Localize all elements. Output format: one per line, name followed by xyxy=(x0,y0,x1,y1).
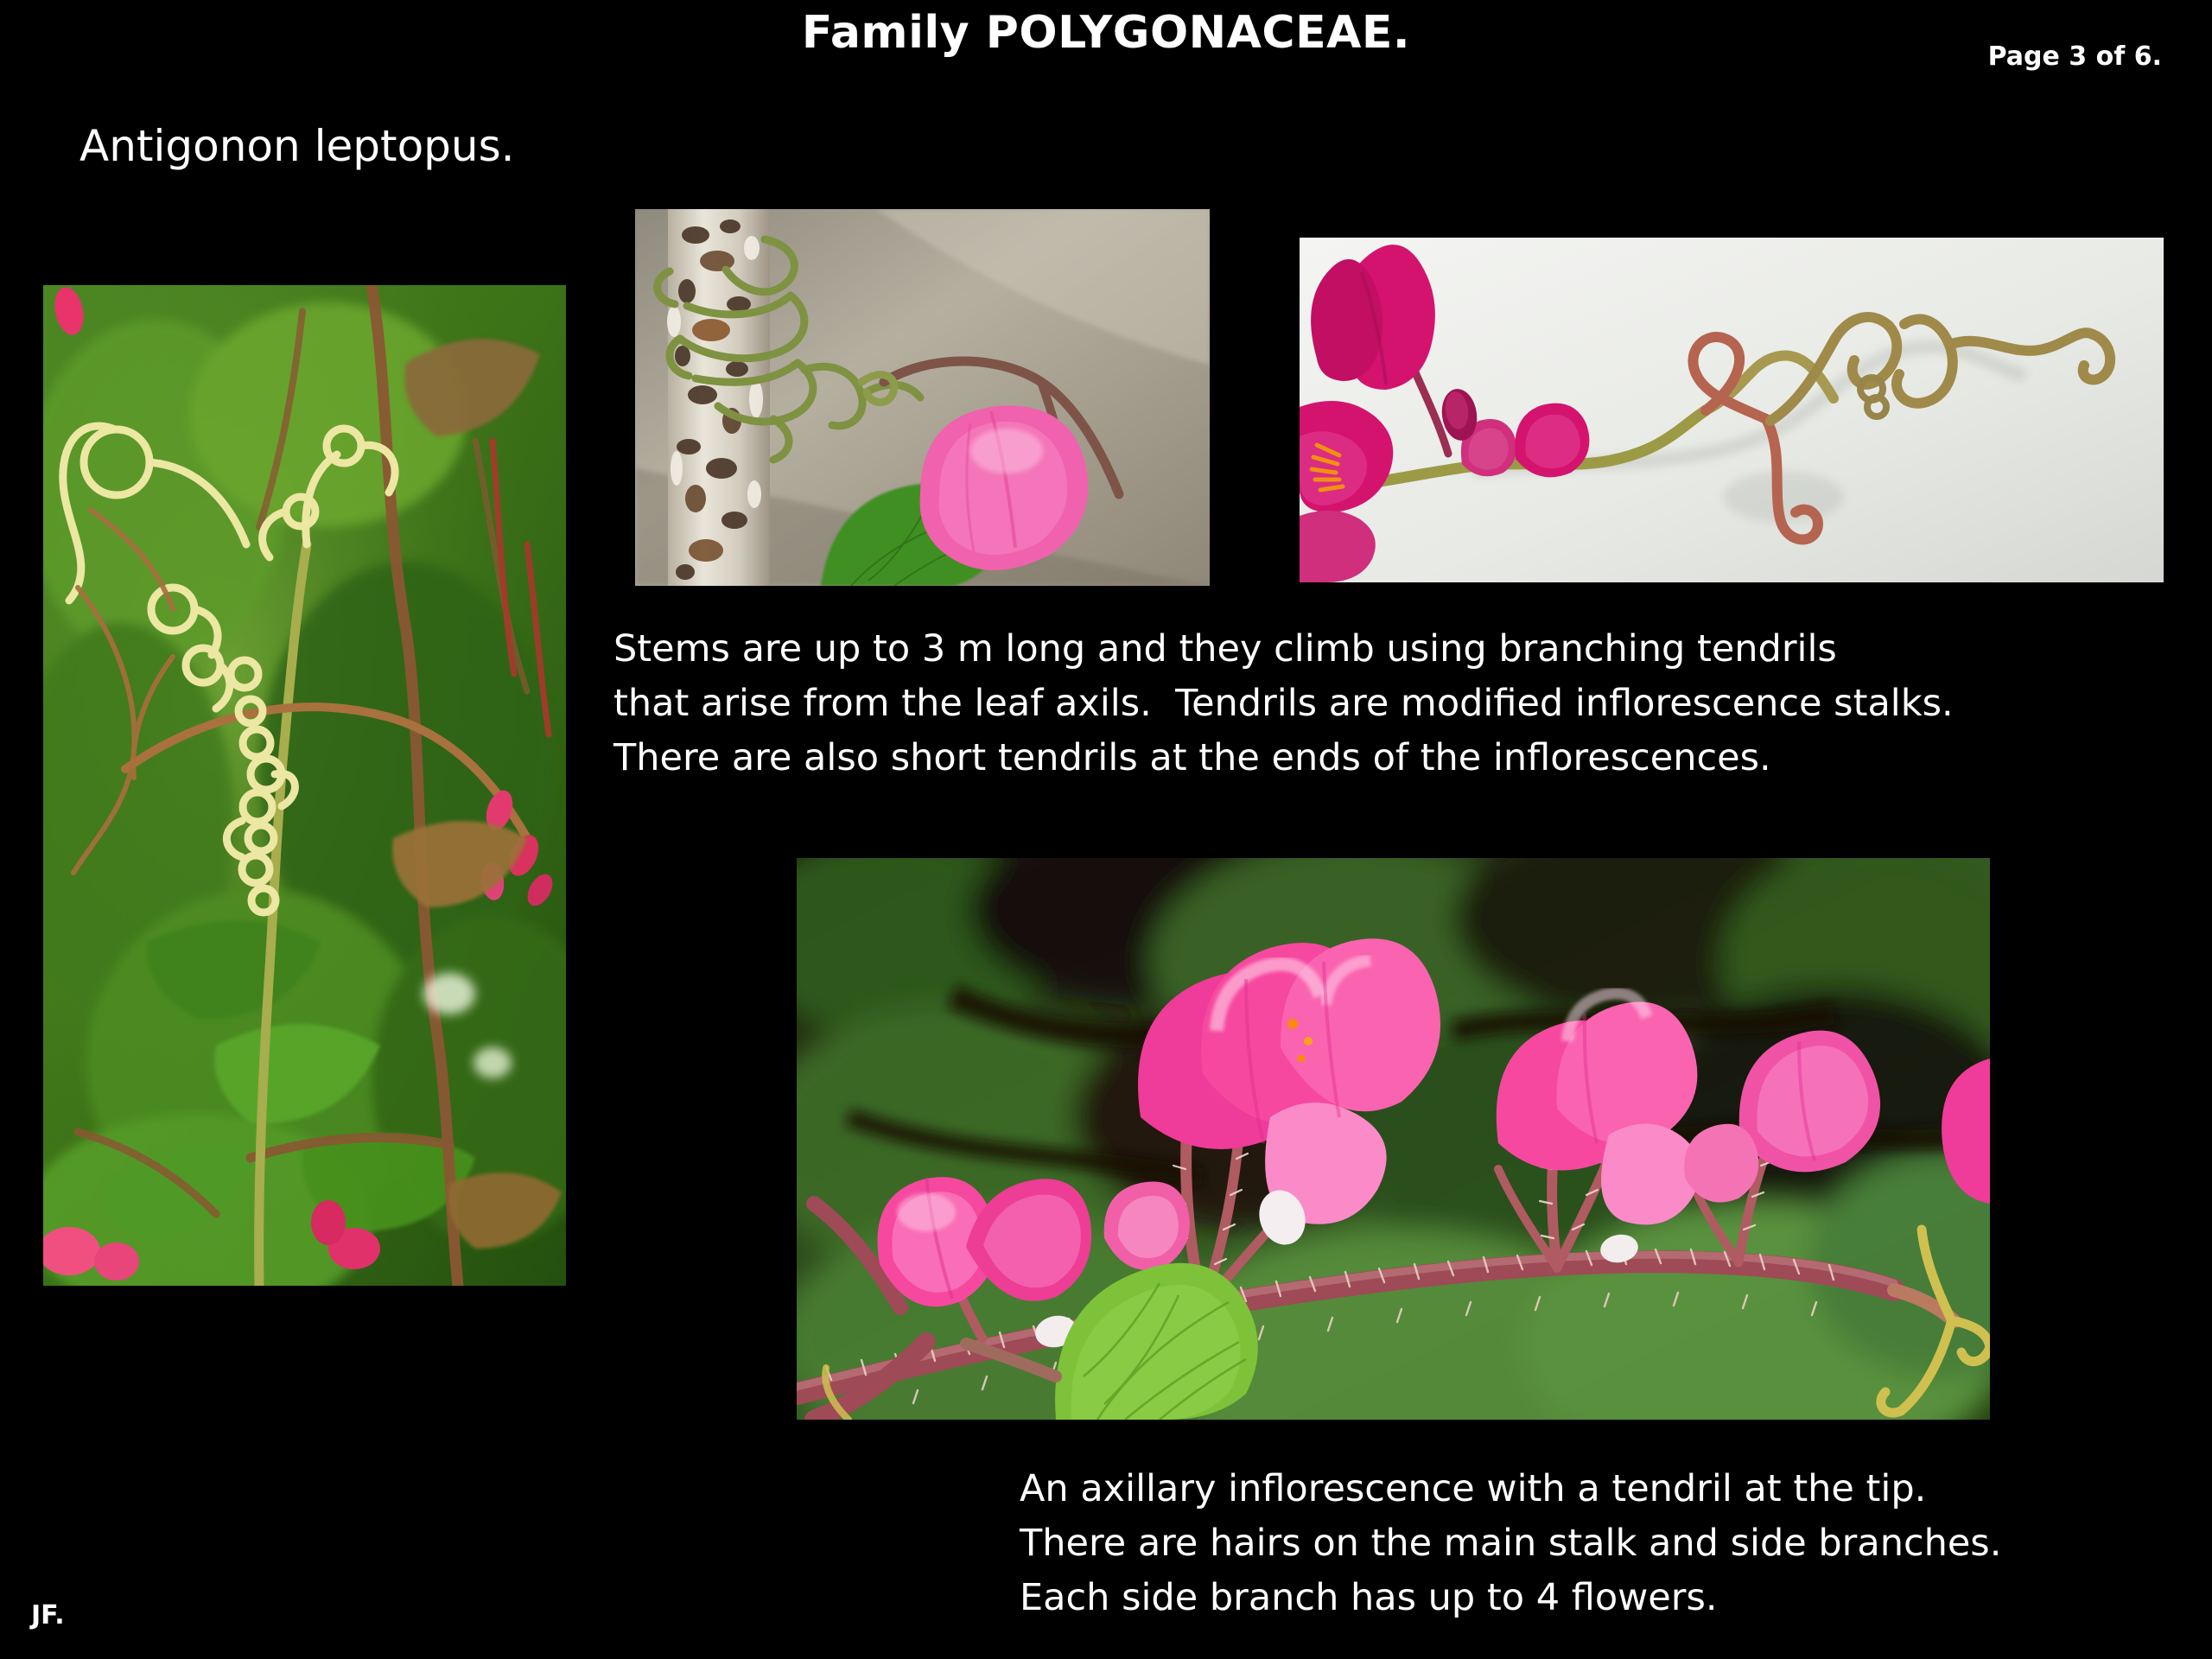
photo-inflorescence xyxy=(797,858,1990,1420)
photo-tendrils-vine xyxy=(43,285,566,1286)
author-signature: JF. xyxy=(31,1600,65,1630)
photo-trunk-tendril xyxy=(635,209,1210,586)
inflorescence-caption: An axillary inflorescence with a tendril… xyxy=(1020,1462,2001,1625)
page-number-label: Page 3 of 6. xyxy=(1988,41,2162,72)
photo-wall-tendril xyxy=(1300,238,2164,582)
slide-canvas: Family POLYGONACEAE. Page 3 of 6. Antigo… xyxy=(0,0,2212,1659)
page-title: Family POLYGONACEAE. xyxy=(717,7,1495,59)
stems-paragraph: Stems are up to 3 m long and they climb … xyxy=(613,622,1954,785)
species-name: Antigonon leptopus. xyxy=(79,121,515,171)
